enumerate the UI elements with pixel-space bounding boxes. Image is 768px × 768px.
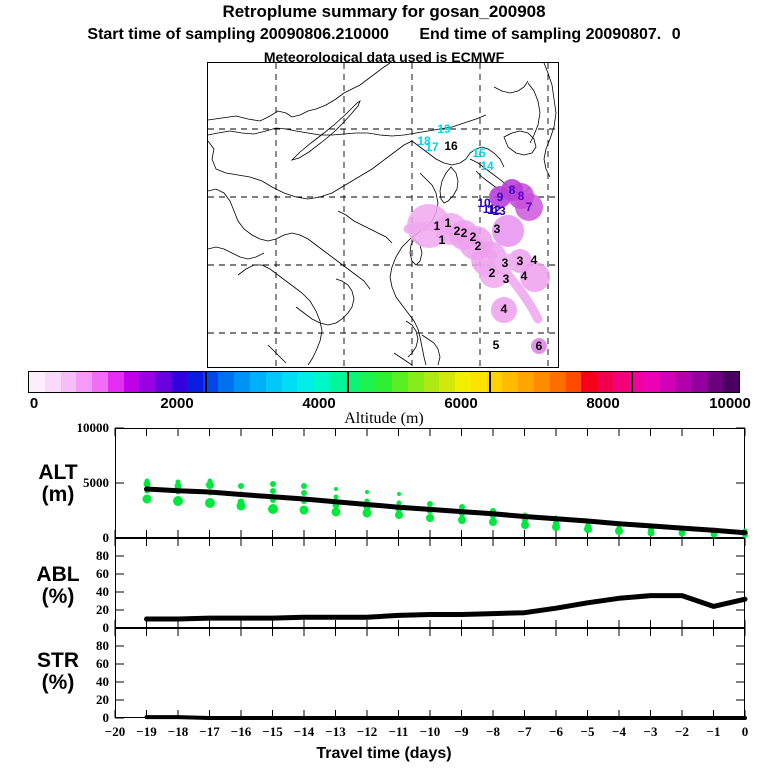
x-tick--9: −9 bbox=[455, 724, 469, 740]
alt-scatter-point bbox=[268, 504, 278, 514]
colorbar-segment-36 bbox=[597, 372, 613, 392]
str-panel[interactable] bbox=[115, 628, 745, 718]
colorbar-segment-1 bbox=[45, 372, 61, 392]
alt-scatter-point bbox=[647, 529, 654, 536]
alt-scatter-point bbox=[521, 521, 529, 529]
x-tick--18: −18 bbox=[168, 724, 188, 740]
alt-scatter-point bbox=[584, 525, 592, 533]
map-marker-14-25[interactable]: 14 bbox=[480, 160, 493, 172]
colorbar-segment-44 bbox=[723, 372, 739, 392]
colorbar-segment-5 bbox=[108, 372, 124, 392]
colorbar-segment-17 bbox=[297, 372, 313, 392]
colorbar-segment-32 bbox=[534, 372, 550, 392]
colorbar-segment-14 bbox=[250, 372, 266, 392]
alt-scatter-point bbox=[365, 490, 369, 494]
abl-ytick-20: 20 bbox=[55, 602, 109, 618]
alt-scatter-point bbox=[270, 497, 276, 503]
map-marker-1-0[interactable]: 1 bbox=[434, 220, 441, 232]
x-axis-title: Travel time (days) bbox=[0, 745, 768, 763]
alt-scatter-point bbox=[427, 501, 433, 507]
alt-scatter-point bbox=[205, 498, 215, 508]
alt-scatter-point bbox=[397, 492, 401, 496]
alt-scatter-point bbox=[334, 487, 338, 491]
colorbar-segment-30 bbox=[502, 372, 518, 392]
map-marker-16-27[interactable]: 16 bbox=[444, 140, 457, 152]
colorbar-segment-28 bbox=[471, 372, 487, 392]
x-tick-0: 0 bbox=[742, 724, 749, 740]
abl-panel[interactable] bbox=[115, 538, 745, 628]
map-marker-15-26[interactable]: 15 bbox=[472, 147, 485, 159]
map-marker-3-8[interactable]: 3 bbox=[494, 223, 501, 235]
abl-ytick-0: 0 bbox=[55, 620, 109, 636]
alt-scatter-point bbox=[395, 511, 403, 519]
x-tick--7: −7 bbox=[518, 724, 532, 740]
str-ytick-0: 0 bbox=[55, 710, 109, 726]
alt-scatter-point bbox=[270, 481, 276, 487]
map-marker-1-2[interactable]: 1 bbox=[445, 217, 452, 229]
colorbar-title: Altitude (m) bbox=[0, 410, 768, 428]
colorbar-segment-22 bbox=[376, 372, 392, 392]
alt-scatter-point bbox=[300, 505, 309, 514]
colorbar-segment-6 bbox=[124, 372, 140, 392]
alt-scatter-point bbox=[396, 500, 401, 505]
map-marker-4-13[interactable]: 4 bbox=[521, 270, 528, 282]
colorbar-sep-4000 bbox=[347, 371, 349, 393]
colorbar-segment-16 bbox=[282, 372, 298, 392]
alt-scatter-point bbox=[365, 498, 370, 503]
sampling-time-line: Start time of sampling 20090806.210000 E… bbox=[0, 26, 768, 44]
x-tick--13: −13 bbox=[325, 724, 345, 740]
alt-scatter-point bbox=[710, 531, 717, 538]
alt-scatter-point bbox=[239, 492, 244, 497]
colorbar-segment-37 bbox=[613, 372, 629, 392]
alt-scatter-point bbox=[238, 483, 244, 489]
alt-scatter-point bbox=[301, 483, 307, 489]
abl-ytick-40: 40 bbox=[55, 584, 109, 600]
map-marker-2-4[interactable]: 2 bbox=[461, 227, 468, 239]
x-tick--2: −2 bbox=[675, 724, 689, 740]
alt-scatter-point bbox=[301, 498, 307, 504]
colorbar-segment-41 bbox=[676, 372, 692, 392]
colorbar-segment-8 bbox=[155, 372, 171, 392]
colorbar-segment-9 bbox=[171, 372, 187, 392]
colorbar-segment-21 bbox=[360, 372, 376, 392]
colorbar-segment-10 bbox=[187, 372, 203, 392]
alt-scatter-point bbox=[615, 527, 623, 535]
map-marker-6-16[interactable]: 6 bbox=[536, 340, 543, 352]
alt-scatter-point bbox=[237, 502, 246, 511]
colorbar-segment-25 bbox=[424, 372, 440, 392]
alt-scatter-point bbox=[459, 504, 465, 510]
abl-ytick-80: 80 bbox=[55, 548, 109, 564]
alt-scatter-point bbox=[742, 532, 748, 538]
alt-scatter-point bbox=[679, 530, 686, 537]
x-tick--17: −17 bbox=[199, 724, 219, 740]
str-ytick-40: 40 bbox=[55, 674, 109, 690]
colorbar-segment-7 bbox=[139, 372, 155, 392]
x-tick--4: −4 bbox=[612, 724, 626, 740]
page-title: Retroplume summary for gosan_200908 bbox=[0, 2, 768, 22]
alt-scatter-point bbox=[301, 490, 307, 496]
map-marker-8-17[interactable]: 8 bbox=[509, 184, 516, 196]
colorbar-segment-4 bbox=[92, 372, 108, 392]
colorbar-segment-42 bbox=[692, 372, 708, 392]
alt-scatter-point bbox=[489, 518, 497, 526]
colorbar-segment-13 bbox=[234, 372, 250, 392]
alt-ytick-10000: 10000 bbox=[55, 420, 109, 436]
map-marker-3-11[interactable]: 3 bbox=[503, 273, 510, 285]
colorbar-segment-15 bbox=[266, 372, 282, 392]
alt-scatter-point bbox=[175, 482, 182, 489]
x-tick--3: −3 bbox=[644, 724, 658, 740]
alt-scatter-point bbox=[143, 481, 150, 488]
alt-scatter-point bbox=[173, 496, 183, 506]
colorbar-segment-26 bbox=[439, 372, 455, 392]
x-tick--20: −20 bbox=[105, 724, 125, 740]
x-tick--11: −11 bbox=[389, 724, 409, 740]
alt-scatter-point bbox=[206, 481, 214, 489]
x-tick--12: −12 bbox=[357, 724, 377, 740]
alt-scatter-point bbox=[427, 508, 433, 514]
str-ytick-80: 80 bbox=[55, 638, 109, 654]
alt-scatter-point bbox=[144, 488, 149, 493]
alt-scatter-point bbox=[426, 514, 434, 522]
str-ytick-60: 60 bbox=[55, 656, 109, 672]
map-marker-1-1[interactable]: 1 bbox=[439, 234, 446, 246]
colorbar-segment-33 bbox=[550, 372, 566, 392]
colorbar-segment-39 bbox=[644, 372, 660, 392]
end-time-label: End time of sampling 20090807. bbox=[419, 26, 661, 43]
alt-scatter-point bbox=[552, 523, 560, 531]
colorbar-sep-8000 bbox=[631, 371, 633, 393]
alt-scatter-point bbox=[207, 490, 212, 495]
colorbar-segment-0 bbox=[29, 372, 45, 392]
alt-scatter-point bbox=[363, 508, 372, 517]
x-tick--10: −10 bbox=[420, 724, 440, 740]
x-tick--1: −1 bbox=[707, 724, 721, 740]
alt-scatter-point bbox=[331, 507, 340, 516]
x-tick--14: −14 bbox=[294, 724, 314, 740]
alt-ytick-0: 0 bbox=[55, 530, 109, 546]
x-tick--16: −16 bbox=[231, 724, 251, 740]
map-marker-18-29[interactable]: 18 bbox=[417, 135, 430, 147]
map-marker-2-3[interactable]: 2 bbox=[454, 225, 461, 237]
colorbar-segment-35 bbox=[581, 372, 597, 392]
x-tick--15: −15 bbox=[262, 724, 282, 740]
colorbar-segment-24 bbox=[408, 372, 424, 392]
altitude-colorbar bbox=[28, 371, 740, 393]
map-marker-7-20[interactable]: 7 bbox=[526, 201, 533, 213]
x-tick--8: −8 bbox=[486, 724, 500, 740]
colorbar-segment-12 bbox=[218, 372, 234, 392]
alt-scatter-point bbox=[458, 516, 466, 524]
retroplume-map[interactable]: 1112222233334445689871011121314151617181… bbox=[207, 62, 559, 368]
map-marker-5-15[interactable]: 5 bbox=[493, 339, 500, 351]
start-time-label: Start time of sampling 20090806.210000 bbox=[87, 26, 389, 43]
colorbar-segment-2 bbox=[61, 372, 77, 392]
alt-scatter-point bbox=[142, 494, 151, 503]
colorbar-segment-31 bbox=[518, 372, 534, 392]
colorbar-segment-27 bbox=[455, 372, 471, 392]
colorbar-segment-43 bbox=[708, 372, 724, 392]
alt-ytick-5000: 5000 bbox=[55, 475, 109, 491]
map-marker-2-6[interactable]: 2 bbox=[475, 240, 482, 252]
map-marker-2-7[interactable]: 2 bbox=[489, 267, 496, 279]
map-marker-13-24[interactable]: 13 bbox=[492, 205, 505, 217]
colorbar-segment-18 bbox=[313, 372, 329, 392]
alt-scatter-point bbox=[270, 488, 276, 494]
map-marker-3-9[interactable]: 3 bbox=[502, 257, 509, 269]
x-tick--5: −5 bbox=[581, 724, 595, 740]
colorbar-segment-23 bbox=[392, 372, 408, 392]
alt-scatter-point bbox=[176, 489, 181, 494]
map-marker-9-18[interactable]: 9 bbox=[497, 191, 504, 203]
end-time-value: 0 bbox=[672, 26, 681, 43]
colorbar-segment-34 bbox=[566, 372, 582, 392]
colorbar-segment-3 bbox=[76, 372, 92, 392]
colorbar-segment-19 bbox=[329, 372, 345, 392]
map-marker-8-19[interactable]: 8 bbox=[518, 190, 525, 202]
colorbar-sep-2000 bbox=[205, 371, 207, 393]
map-marker-4-12[interactable]: 4 bbox=[531, 254, 538, 266]
colorbar-sep-6000 bbox=[489, 371, 491, 393]
map-marker-4-14[interactable]: 4 bbox=[501, 303, 508, 315]
abl-ytick-60: 60 bbox=[55, 566, 109, 582]
alt-scatter-point bbox=[333, 495, 338, 500]
str-ytick-20: 20 bbox=[55, 692, 109, 708]
map-marker-3-10[interactable]: 3 bbox=[517, 255, 524, 267]
map-marker-19-30[interactable]: 19 bbox=[437, 123, 450, 135]
x-tick--6: −6 bbox=[549, 724, 563, 740]
colorbar-segment-40 bbox=[660, 372, 676, 392]
x-tick--19: −19 bbox=[136, 724, 156, 740]
